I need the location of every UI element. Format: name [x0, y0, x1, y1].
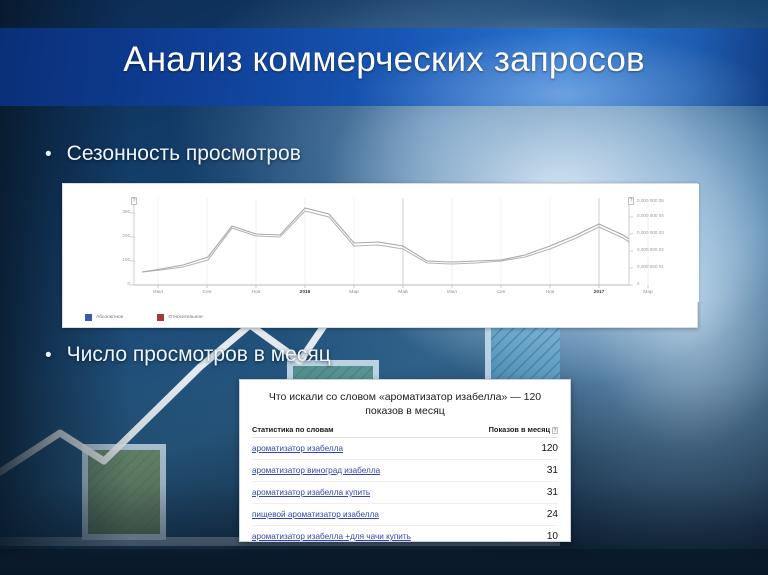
x-axis-tick-7: Сен — [497, 291, 506, 296]
chart-plot-area: 300 200 100 0 0,000 000 05 0,000 000 04 … — [63, 184, 697, 302]
table-row: ароматизатор изабелла +для чачи купить 1… — [252, 526, 558, 548]
x-axis-tick-0: Июл — [153, 291, 163, 296]
legend-item-absolute[interactable]: Абсолютное — [85, 314, 123, 321]
chart-svg — [63, 184, 699, 302]
bullet-label: Число просмотров в месяц — [67, 343, 331, 367]
table-header-row: Статистика по словам Показов в месяц? — [252, 425, 558, 438]
x-axis-tick-9: 2017 — [594, 291, 605, 296]
x-axis-tick-5: Май — [398, 291, 407, 296]
column-header-count: Показов в месяц? — [465, 425, 558, 438]
keyword-count: 24 — [465, 504, 558, 526]
bullet-marker-icon: • — [45, 346, 52, 365]
y2-axis-tick-04: 0,000 000 04 — [637, 214, 664, 219]
legend-item-relative[interactable]: Относительное — [157, 314, 202, 321]
x-axis-tick-8: Ноя — [546, 291, 555, 296]
bullet-item-seasonality: • Сезонность просмотров — [45, 142, 301, 166]
wordstat-keywords-panel: Что искали со словом «ароматизатор изабе… — [239, 379, 571, 542]
x-axis-tick-6: Июл — [447, 291, 457, 296]
table-row: ароматизатор изабелла купить 31 — [252, 482, 558, 504]
keyword-link[interactable]: ароматизатор изабелла — [252, 444, 343, 453]
keyword-link[interactable]: ароматизатор изабелла купить — [252, 488, 370, 497]
legend-swatch-relative — [157, 314, 164, 321]
bullet-item-monthly-views: • Число просмотров в месяц — [45, 343, 331, 367]
keyword-count: 120 — [465, 438, 558, 460]
slide-root: Анализ коммерческих запросов • Сезонност… — [0, 0, 768, 575]
x-axis-tick-1: Сен — [203, 291, 212, 296]
keyword-link[interactable]: пищевой ароматизатор изабелла — [252, 510, 379, 519]
right-axis-help-icon[interactable]: ? — [628, 197, 634, 205]
x-axis-tick-3: 2016 — [300, 291, 311, 296]
left-axis-help-icon[interactable]: ? — [131, 197, 137, 205]
bottom-strip — [0, 549, 768, 575]
legend-label-relative: Относительное — [168, 315, 202, 320]
count-help-icon[interactable]: ? — [552, 427, 558, 434]
keywords-heading: Что искали со словом «ароматизатор изабе… — [252, 389, 558, 425]
y2-axis-tick-02: 0,000 000 02 — [637, 248, 664, 253]
y-axis-tick-200: 200 — [113, 234, 130, 239]
page-title: Анализ коммерческих запросов — [0, 40, 768, 80]
x-axis-tick-10: Мар — [643, 291, 652, 296]
chart-legend: Абсолютное Относительное — [85, 314, 203, 321]
legend-swatch-absolute — [85, 314, 92, 321]
keyword-link[interactable]: ароматизатор изабелла +для чачи купить — [252, 532, 411, 541]
y2-axis-tick-03: 0,000 000 03 — [637, 231, 664, 236]
x-axis-tick-4: Мар — [349, 291, 358, 296]
keyword-link[interactable]: ароматизатор виноград изабелла — [252, 466, 380, 475]
column-header-term: Статистика по словам — [252, 425, 465, 438]
column-header-count-label: Показов в месяц — [489, 425, 550, 434]
y2-axis-tick-05: 0,000 000 05 — [637, 199, 664, 204]
legend-label-absolute: Абсолютное — [96, 315, 123, 320]
y-axis-tick-0: 0 — [113, 282, 130, 287]
y-axis-tick-300: 300 — [113, 210, 130, 215]
table-row: ароматизатор изабелла 120 — [252, 438, 558, 460]
y2-axis-tick-0: 0 — [637, 282, 640, 287]
wordstat-seasonality-panel: 300 200 100 0 0,000 000 05 0,000 000 04 … — [62, 183, 698, 328]
keyword-count: 31 — [465, 460, 558, 482]
table-row: ароматизатор виноград изабелла 31 — [252, 460, 558, 482]
x-axis-tick-2: Ноя — [252, 291, 261, 296]
table-row: пищевой ароматизатор изабелла 24 — [252, 504, 558, 526]
keyword-count: 10 — [465, 526, 558, 548]
keywords-table: Статистика по словам Показов в месяц? ар… — [252, 425, 558, 547]
keyword-count: 31 — [465, 482, 558, 504]
y2-axis-tick-01: 0,000 000 01 — [637, 265, 664, 270]
bullet-marker-icon: • — [45, 145, 52, 164]
y-axis-tick-100: 100 — [113, 258, 130, 263]
bullet-label: Сезонность просмотров — [67, 142, 301, 166]
